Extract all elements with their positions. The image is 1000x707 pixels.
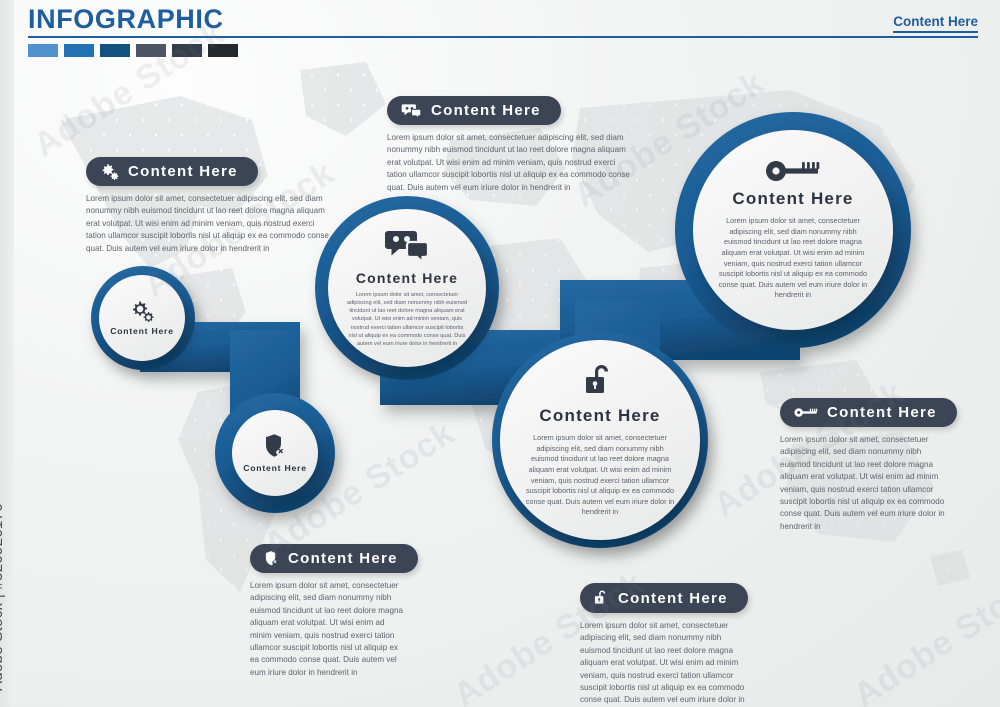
circle-chat-mid[interactable]: Content Here Lorem ipsum dolor sit amet,… <box>328 209 486 367</box>
circle-body: Lorem ipsum dolor sit amet, consectetuer… <box>523 433 678 518</box>
callout-body: Lorem ipsum dolor sit amet, consectetuer… <box>580 620 748 707</box>
circle-gears-small[interactable]: Content Here <box>99 275 185 361</box>
circle-title: Content Here <box>243 463 307 473</box>
callout-gears: Content Here Lorem ipsum dolor sit amet,… <box>86 157 331 255</box>
circle-title: Content Here <box>539 406 660 426</box>
swatch-4 <box>172 44 202 57</box>
callout-label: Content Here <box>128 163 238 180</box>
color-swatch-strip <box>28 44 238 57</box>
callout-label: Content Here <box>288 550 398 567</box>
key-icon <box>765 159 821 183</box>
circle-title: Content Here <box>110 326 174 336</box>
callout-body: Lorem ipsum dolor sit amet, consectetuer… <box>86 193 331 255</box>
chat-icon <box>401 103 422 119</box>
swatch-0 <box>28 44 58 57</box>
infographic-canvas: Content Here Content Here Content Here L… <box>0 0 1000 707</box>
circle-key-big[interactable]: Content Here Lorem ipsum dolor sit amet,… <box>693 130 893 330</box>
shield-icon <box>263 433 287 459</box>
callout-key: Content Here Lorem ipsum dolor sit amet,… <box>780 398 957 533</box>
circle-body: Lorem ipsum dolor sit amet, consectetuer… <box>346 291 468 348</box>
unlock-icon <box>584 362 616 400</box>
page-title: INFOGRAPHIC <box>28 4 224 35</box>
circle-shield-small[interactable]: Content Here <box>232 410 318 496</box>
gears-icon <box>130 300 154 322</box>
swatch-5 <box>208 44 238 57</box>
callout-shield: Content Here Lorem ipsum dolor sit amet,… <box>250 544 418 679</box>
unlock-icon <box>594 589 609 607</box>
gears-icon <box>100 163 119 180</box>
circle-body: Lorem ipsum dolor sit amet, consectetuer… <box>716 216 871 301</box>
stock-watermark-side: Adobe Stock | #520926176 <box>0 503 6 691</box>
callout-body: Lorem ipsum dolor sit amet, consectetuer… <box>387 132 632 194</box>
swatch-3 <box>136 44 166 57</box>
shield-icon <box>264 550 279 567</box>
callout-pill[interactable]: Content Here <box>780 398 957 427</box>
callout-pill[interactable]: Content Here <box>387 96 561 125</box>
callout-label: Content Here <box>618 590 728 607</box>
callout-body: Lorem ipsum dolor sit amet, consectetuer… <box>780 434 948 533</box>
callout-label: Content Here <box>431 102 541 119</box>
header-divider <box>28 36 978 38</box>
swatch-1 <box>64 44 94 57</box>
header-right-label[interactable]: Content Here <box>893 14 978 33</box>
chat-icon <box>384 228 430 264</box>
callout-body: Lorem ipsum dolor sit amet, consectetuer… <box>250 580 405 679</box>
callout-chat: Content Here Lorem ipsum dolor sit amet,… <box>387 96 632 194</box>
swatch-2 <box>100 44 130 57</box>
stock-watermark-diagonal: Adobe Stock <box>847 564 1000 707</box>
callout-pill[interactable]: Content Here <box>86 157 258 186</box>
callout-pill[interactable]: Content Here <box>250 544 418 573</box>
circle-title: Content Here <box>356 270 458 286</box>
circle-unlock-big[interactable]: Content Here Lorem ipsum dolor sit amet,… <box>500 340 700 540</box>
circle-title: Content Here <box>732 189 853 209</box>
callout-unlock: Content Here Lorem ipsum dolor sit amet,… <box>580 583 748 707</box>
key-icon <box>794 407 818 418</box>
callout-label: Content Here <box>827 404 937 421</box>
callout-pill[interactable]: Content Here <box>580 583 748 613</box>
